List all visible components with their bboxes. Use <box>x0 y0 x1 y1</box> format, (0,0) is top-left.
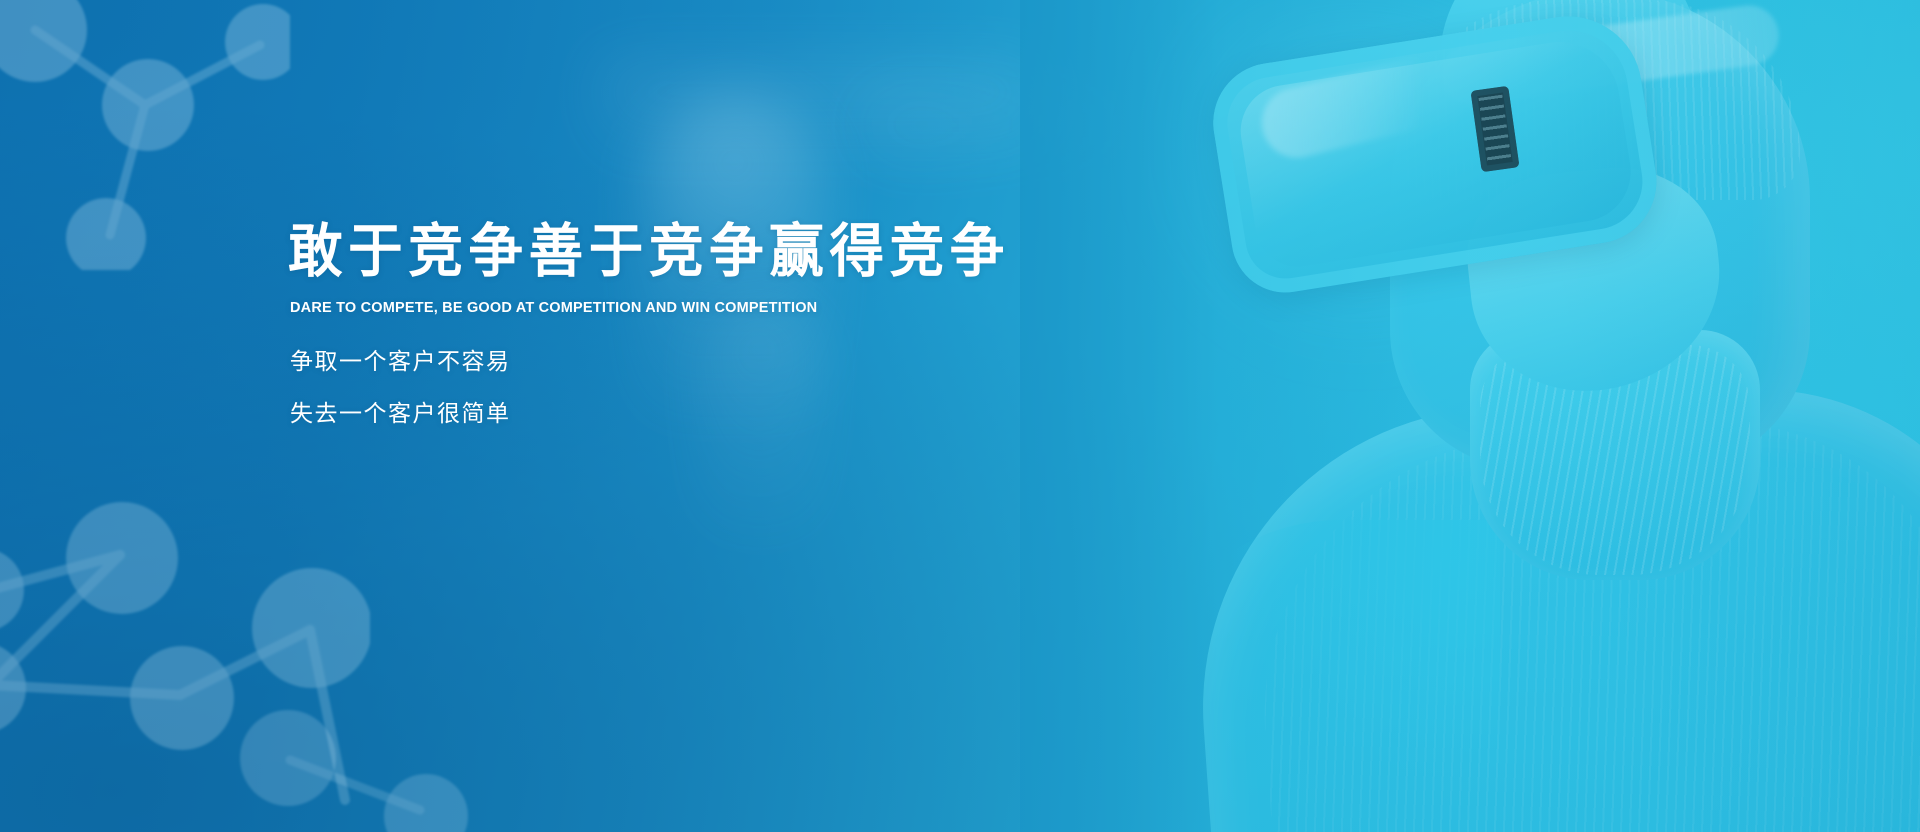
banner-copy: 敢于竞争善于竞争赢得竞争 DARE TO COMPETE, BE GOOD AT… <box>288 222 1056 428</box>
cleanroom-worker-photo <box>1140 0 1920 832</box>
banner-tagline-2: 失去一个客户很简单 <box>290 394 1056 428</box>
banner-subtitle-english: DARE TO COMPETE, BE GOOD AT COMPETITION … <box>290 300 1056 316</box>
banner-headline: 敢于竞争善于竞争赢得竞争 <box>288 222 1010 280</box>
blurred-light-band <box>860 90 1160 160</box>
hero-banner: 敢于竞争善于竞争赢得竞争 DARE TO COMPETE, BE GOOD AT… <box>0 0 1920 832</box>
banner-tagline-1: 争取一个客户不容易 <box>290 342 1056 376</box>
photo-shading <box>1140 0 1920 832</box>
